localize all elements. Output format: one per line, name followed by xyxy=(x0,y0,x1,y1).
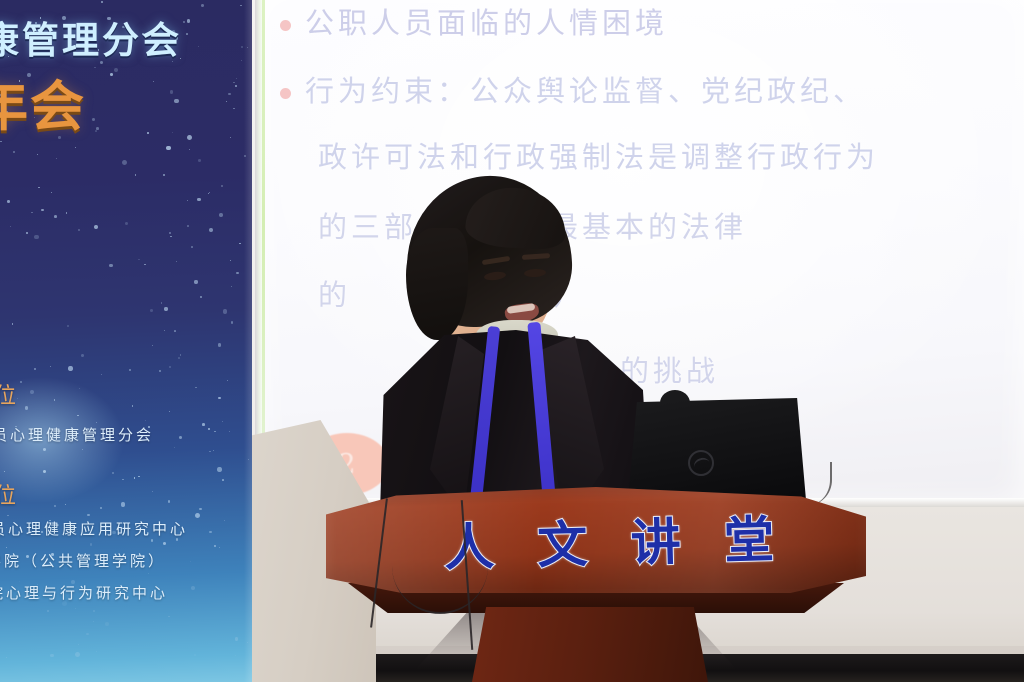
slide-bullet-2: 行为约束：公众舆论监督、党纪政纪、 xyxy=(280,72,866,111)
banner-title-line1: 康管理分会 xyxy=(0,10,242,64)
banner-section-1-line-1: 员心理健康管理分会 xyxy=(0,424,154,445)
slide-bullet-2-text: 行为约束：公众舆论监督、党纪政纪、 xyxy=(305,72,866,111)
photo-scene: 公职人员面临的人情困境 行为约束：公众舆论监督、党纪政纪、 政许可法和行政强制法… xyxy=(0,0,1024,682)
bullet-dot-icon xyxy=(280,20,291,31)
banner-title-line2: 年会 xyxy=(0,62,234,141)
conference-banner: 康管理分会 年会 位 员心理健康管理分会 位 员心理健康应用研究中心 学院（公共… xyxy=(0,0,252,682)
banner-edge-highlight xyxy=(244,0,252,682)
slide-bullet-1: 公职人员面临的人情困境 xyxy=(280,4,668,43)
laptop xyxy=(628,398,806,500)
banner-section-2-line-1: 员心理健康应用研究中心 xyxy=(0,518,188,539)
banner-section-2-line-3: 院心理与行为研究中心 xyxy=(0,582,168,603)
bullet-dot-icon xyxy=(280,88,291,99)
lectern-sign: 人 文 讲 堂 xyxy=(443,499,775,582)
slide-bullet-1-text: 公职人员面临的人情困境 xyxy=(305,4,668,43)
lectern-char-4: 堂 xyxy=(723,500,775,573)
lectern-char-2: 文 xyxy=(536,505,588,578)
lectern-char-3: 讲 xyxy=(630,502,682,575)
banner-section-2-heading: 位 xyxy=(0,478,19,510)
banner-section-1-heading: 位 xyxy=(0,378,19,410)
dell-logo-icon xyxy=(688,450,714,476)
banner-section-2-line-2: 学院（公共管理学院） xyxy=(0,550,166,571)
lectern-column xyxy=(472,607,708,682)
speaker-hair-side xyxy=(406,228,468,340)
